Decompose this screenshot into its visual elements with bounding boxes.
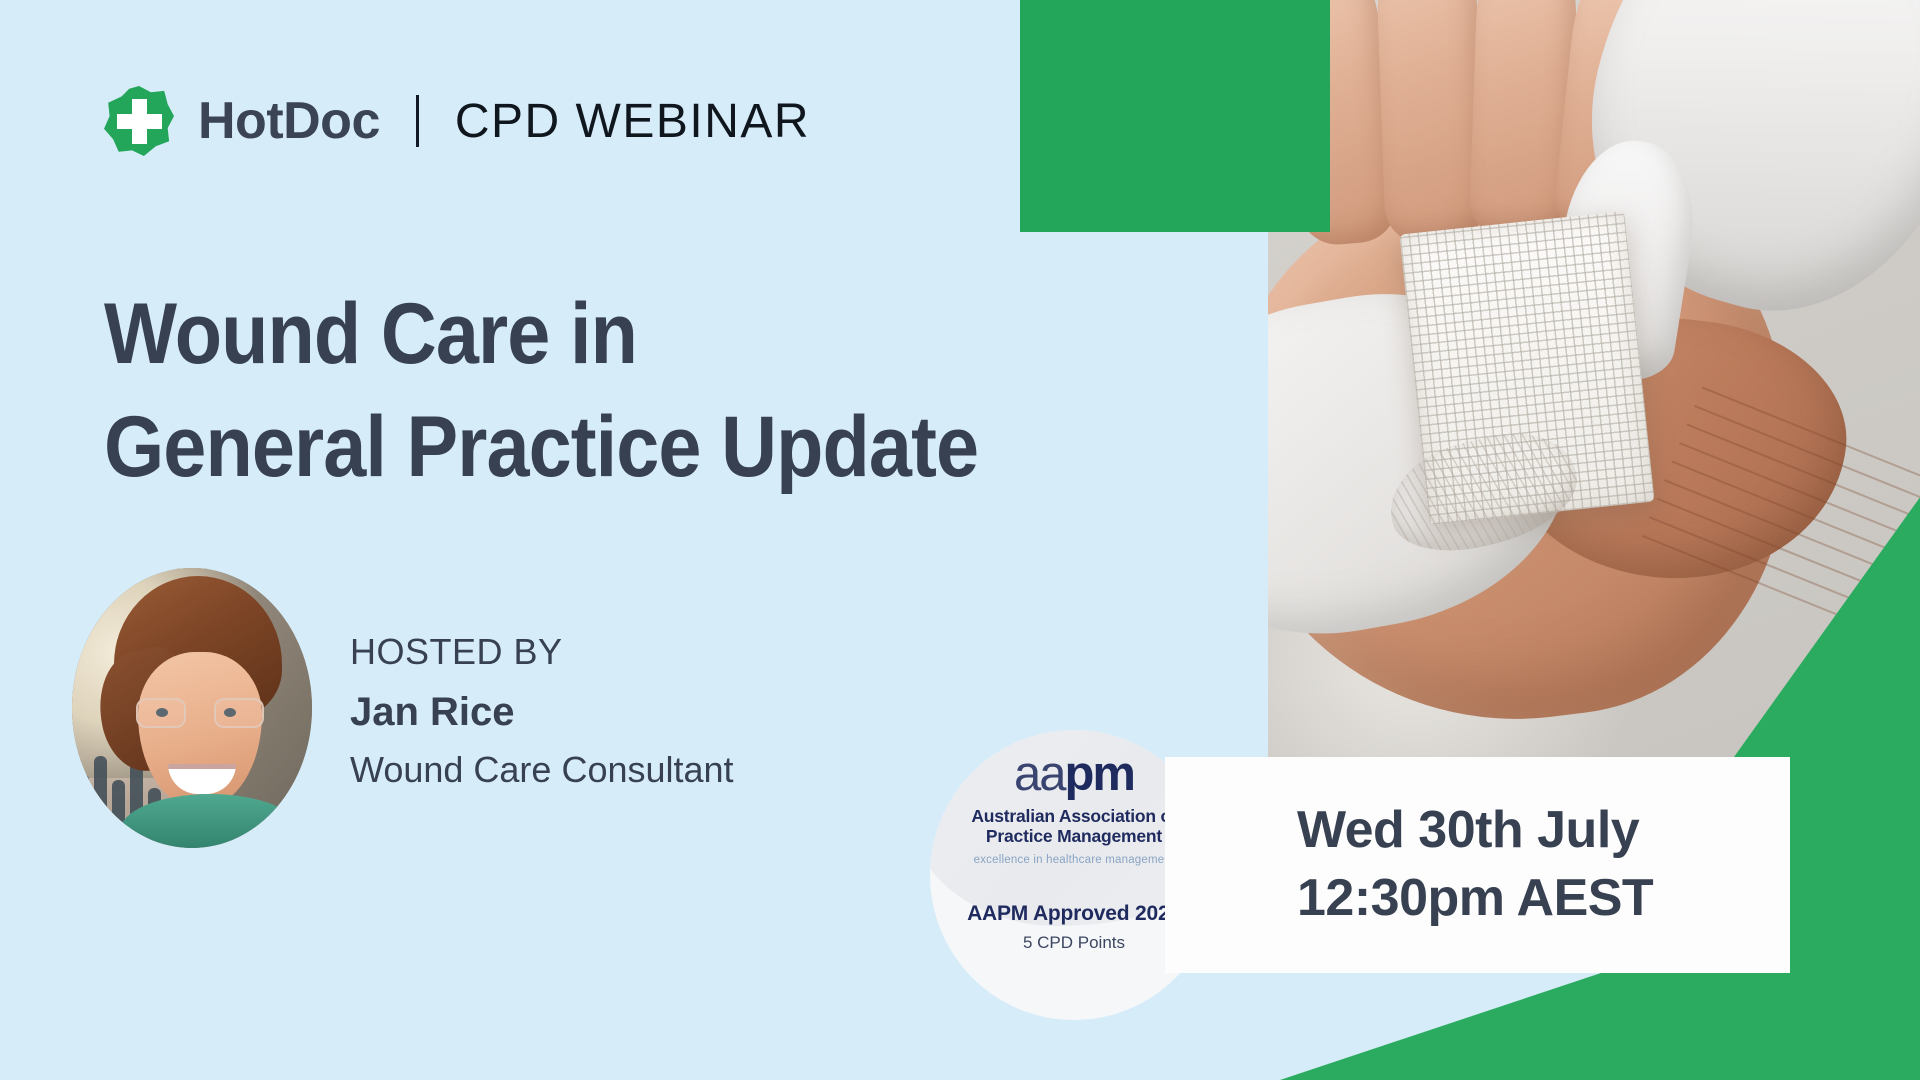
host-name: Jan Rice <box>350 692 734 732</box>
schedule-panel: Wed 30th July 12:30pm AEST <box>1165 757 1790 973</box>
hotdoc-cross-icon <box>104 86 174 156</box>
header-divider <box>416 95 419 147</box>
schedule-time: 12:30pm AEST <box>1297 865 1790 933</box>
title-line-2: General Practice Update <box>104 391 959 504</box>
page-title: Wound Care in General Practice Update <box>104 278 959 504</box>
green-square-decoration <box>1020 0 1330 232</box>
host-block: HOSTED BY Jan Rice Wound Care Consultant <box>72 568 734 848</box>
hosted-by-label: HOSTED BY <box>350 634 734 670</box>
glasses-icon <box>134 698 266 728</box>
aapm-logo-bold: pm <box>1065 747 1135 801</box>
header: HotDoc CPD WEBINAR <box>104 86 810 156</box>
schedule-date: Wed 30th July <box>1297 797 1790 865</box>
title-line-1: Wound Care in <box>104 278 959 391</box>
host-role: Wound Care Consultant <box>350 752 734 788</box>
avatar <box>72 568 312 848</box>
patient-finger <box>1374 0 1485 246</box>
promo-canvas: HotDoc CPD WEBINAR Wound Care in General… <box>0 0 1920 1080</box>
brand-name: HotDoc <box>198 91 380 151</box>
header-subtitle: CPD WEBINAR <box>455 94 810 149</box>
aapm-logo-thin: aa <box>1014 747 1065 801</box>
